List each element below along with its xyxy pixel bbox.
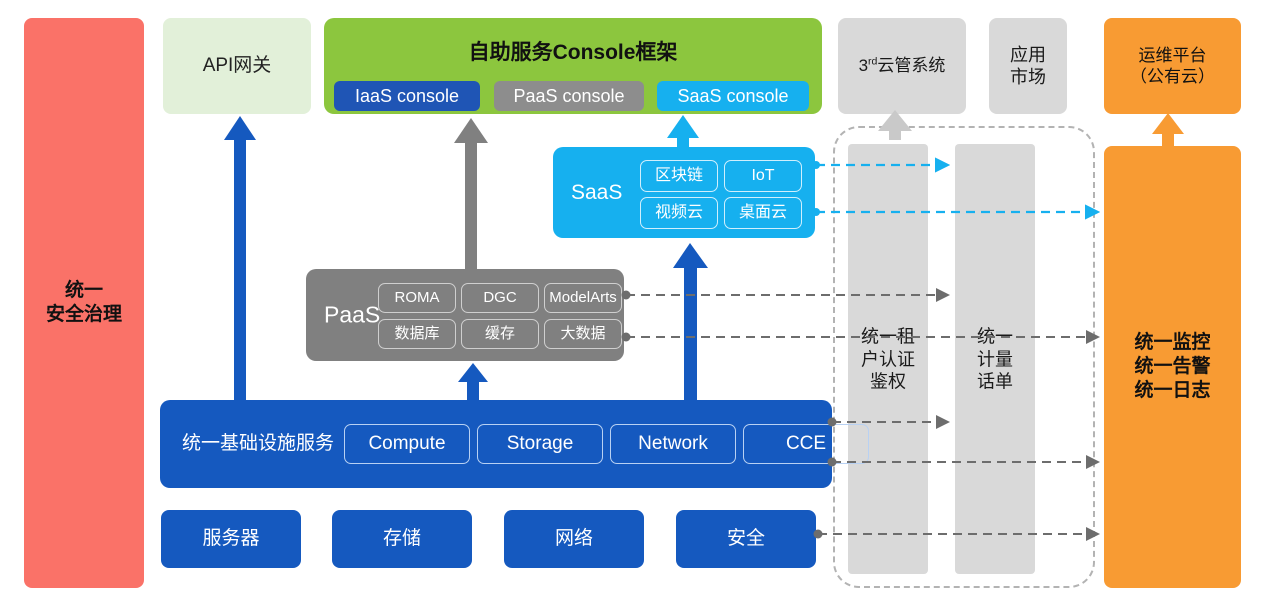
saas-item-2-label: 视频云: [655, 203, 703, 223]
saas-item-blockchain[interactable]: 区块链: [640, 160, 718, 192]
paas-console-label: PaaS console: [513, 85, 624, 108]
paas-item-4-label: 缓存: [485, 325, 515, 344]
ops-platform-line-1: 运维平台: [1130, 45, 1215, 66]
app-market-line-1: 应用: [1010, 44, 1046, 67]
infra-item-3-label: CCE: [786, 432, 826, 456]
app-market-line-2: 市场: [1010, 66, 1046, 89]
grey-column-tenant-auth: 统一租 户认证 鉴权: [848, 144, 928, 574]
iaas-console-label: IaaS console: [355, 85, 459, 108]
resource-1-label: 存储: [383, 527, 421, 551]
saas-item-iot[interactable]: IoT: [724, 160, 802, 192]
unified-security-panel: 统一 安全治理: [24, 18, 144, 588]
ops-platform-box: 运维平台 （公有云）: [1104, 18, 1241, 114]
resource-2-label: 网络: [555, 527, 593, 551]
console-framework-title: 自助服务Console框架: [324, 40, 822, 66]
grey-col-1-line-1: 统一租: [848, 325, 928, 348]
api-gateway-box: API网关: [163, 18, 311, 114]
grey-col-2-line-1: 统一: [955, 325, 1035, 348]
arrow-infra-to-saas: [673, 243, 708, 400]
arrow-infra-to-api-gateway: [224, 116, 256, 400]
saas-block: SaaS 区块链 IoT 视频云 桌面云: [553, 147, 815, 238]
paas-item-dgc[interactable]: DGC: [461, 283, 539, 313]
paas-item-roma[interactable]: ROMA: [378, 283, 456, 313]
third-party-prefix: 3: [859, 56, 868, 75]
ops-right-line-3: 统一日志: [1134, 379, 1210, 403]
paas-item-bigdata[interactable]: 大数据: [544, 319, 622, 349]
paas-item-modelarts[interactable]: ModelArts: [544, 283, 622, 313]
paas-item-cache[interactable]: 缓存: [461, 319, 539, 349]
saas-label: SaaS: [571, 179, 622, 205]
saas-item-desktop-cloud[interactable]: 桌面云: [724, 197, 802, 229]
ops-right-line-2: 统一告警: [1134, 355, 1210, 379]
paas-item-0-label: ROMA: [395, 289, 440, 308]
infra-item-2-label: Network: [638, 432, 708, 456]
paas-item-database[interactable]: 数据库: [378, 319, 456, 349]
paas-item-3-label: 数据库: [394, 325, 439, 344]
paas-console-chip[interactable]: PaaS console: [494, 81, 644, 111]
grey-col-1-line-3: 鉴权: [848, 370, 928, 393]
saas-item-1-label: IoT: [751, 166, 774, 186]
arrow-paas-to-console: [454, 118, 488, 269]
paas-item-1-label: DGC: [483, 289, 516, 308]
arrow-infra-to-paas: [458, 363, 488, 400]
ops-right-line-1: 统一监控: [1134, 331, 1210, 355]
resource-box-security: 安全: [676, 510, 816, 568]
paas-item-2-label: ModelArts: [549, 289, 617, 308]
saas-console-label: SaaS console: [677, 85, 788, 108]
paas-block: PaaS ROMA DGC ModelArts 数据库 缓存 大数据: [306, 269, 624, 361]
arrow-saas-to-saas-console: [667, 115, 699, 147]
resource-3-label: 安全: [727, 527, 765, 551]
unified-monitoring-panel: 统一监控 统一告警 统一日志: [1104, 146, 1241, 588]
saas-console-chip[interactable]: SaaS console: [657, 81, 809, 111]
saas-item-0-label: 区块链: [655, 166, 703, 186]
security-line-2: 安全治理: [46, 303, 122, 327]
architecture-diagram: 统一 安全治理 API网关 自助服务Console框架 IaaS console…: [0, 0, 1265, 605]
resource-box-storage: 存储: [332, 510, 472, 568]
unified-infrastructure-bar: 统一基础设施服务 Compute Storage Network CCE: [160, 400, 832, 488]
saas-item-3-label: 桌面云: [739, 203, 787, 223]
console-framework-box: 自助服务Console框架 IaaS console PaaS console …: [324, 18, 822, 114]
infra-item-0-label: Compute: [368, 432, 445, 456]
infra-item-1-label: Storage: [507, 432, 574, 456]
saas-item-video-cloud[interactable]: 视频云: [640, 197, 718, 229]
resource-box-network: 网络: [504, 510, 644, 568]
third-party-cloud-mgmt-box: 3rd云管系统: [838, 18, 966, 114]
grey-col-2-line-2: 计量: [955, 348, 1035, 371]
resource-0-label: 服务器: [202, 527, 259, 551]
grey-col-1-line-2: 户认证: [848, 348, 928, 371]
infra-item-network[interactable]: Network: [610, 424, 736, 464]
infra-item-compute[interactable]: Compute: [344, 424, 470, 464]
security-line-1: 统一: [46, 279, 122, 303]
infra-item-cce[interactable]: CCE: [743, 424, 869, 464]
api-gateway-label: API网关: [203, 54, 272, 78]
arrow-ops-pillar-to-ops-platform: [1152, 113, 1184, 146]
grey-col-2-line-3: 话单: [955, 370, 1035, 393]
resource-box-server: 服务器: [161, 510, 301, 568]
infra-label: 统一基础设施服务: [182, 432, 334, 456]
iaas-console-chip[interactable]: IaaS console: [334, 81, 480, 111]
paas-item-5-label: 大数据: [560, 325, 605, 344]
grey-column-metering-billing: 统一 计量 话单: [955, 144, 1035, 574]
app-market-box: 应用 市场: [989, 18, 1067, 114]
paas-label: PaaS: [324, 301, 380, 330]
infra-item-storage[interactable]: Storage: [477, 424, 603, 464]
ops-platform-line-2: （公有云）: [1130, 66, 1215, 87]
third-party-suffix: 云管系统: [877, 56, 945, 75]
